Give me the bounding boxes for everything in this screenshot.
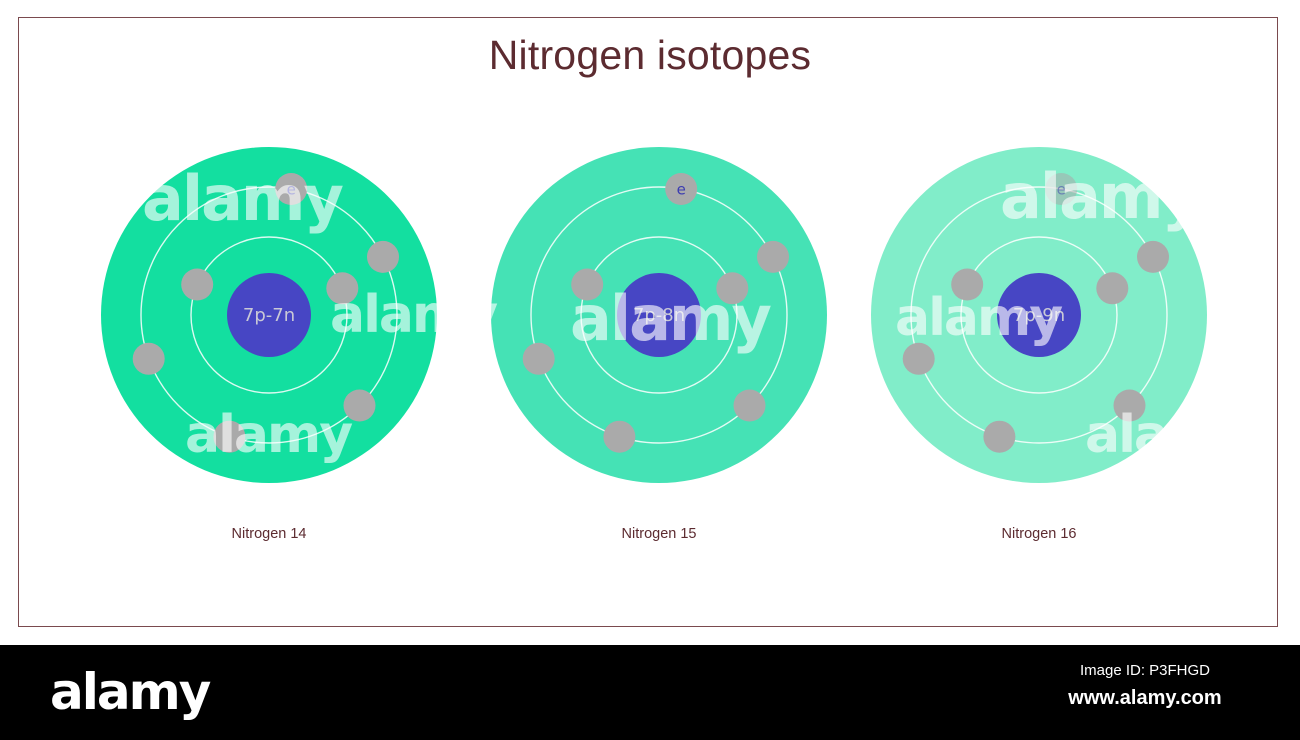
page-title: Nitrogen isotopes [0, 29, 1300, 81]
nucleus-label: 7p-8n [633, 305, 685, 326]
electron [523, 343, 555, 375]
nucleus-label: 7p-9n [1013, 305, 1065, 326]
electron [213, 421, 245, 453]
alamy-footer-bar: alamy Image ID: P3FHGD www.alamy.com [0, 645, 1300, 740]
atom-card-nitrogen-16[interactable]: e 7p-9n Nitrogen 16 [864, 140, 1224, 560]
electron [757, 241, 789, 273]
alamy-logo: alamy [50, 666, 209, 718]
electron-charge-label: e [1057, 181, 1066, 199]
electron [133, 343, 165, 375]
electron [734, 390, 766, 422]
electron [181, 269, 213, 301]
atom-card-nitrogen-15[interactable]: e 7p-8n Nitrogen 15 [484, 140, 844, 560]
atom-card-nitrogen-14[interactable]: e 7p-7n Nitrogen 14 [94, 140, 454, 560]
atom-caption-nitrogen-15: Nitrogen 15 [484, 526, 834, 542]
electron [1137, 241, 1169, 273]
electron [326, 272, 358, 304]
electron [344, 390, 376, 422]
electron [1114, 390, 1146, 422]
image-id-text: Image ID: P3FHGD [1020, 662, 1270, 679]
electron [983, 421, 1015, 453]
alamy-url-text: www.alamy.com [1020, 687, 1270, 710]
atom-svg-nitrogen-14: e 7p-7n [94, 140, 444, 490]
atom-diagram-row: e 7p-7n Nitrogen 14 e [18, 140, 1278, 560]
electron [367, 241, 399, 273]
illustration-canvas: Nitrogen isotopes e 7p-7n [0, 0, 1300, 645]
atom-caption-nitrogen-16: Nitrogen 16 [864, 526, 1214, 542]
atom-svg-nitrogen-16: e 7p-9n [864, 140, 1214, 490]
electron [603, 421, 635, 453]
nucleus-label: 7p-7n [243, 305, 295, 326]
electron-charge-label: e [677, 181, 686, 199]
electron [716, 272, 748, 304]
electron [1096, 272, 1128, 304]
atom-svg-nitrogen-15: e 7p-8n [484, 140, 834, 490]
electron-charge-label: e [287, 181, 296, 199]
electron [951, 269, 983, 301]
electron [571, 269, 603, 301]
atom-caption-nitrogen-14: Nitrogen 14 [94, 526, 444, 542]
electron [903, 343, 935, 375]
